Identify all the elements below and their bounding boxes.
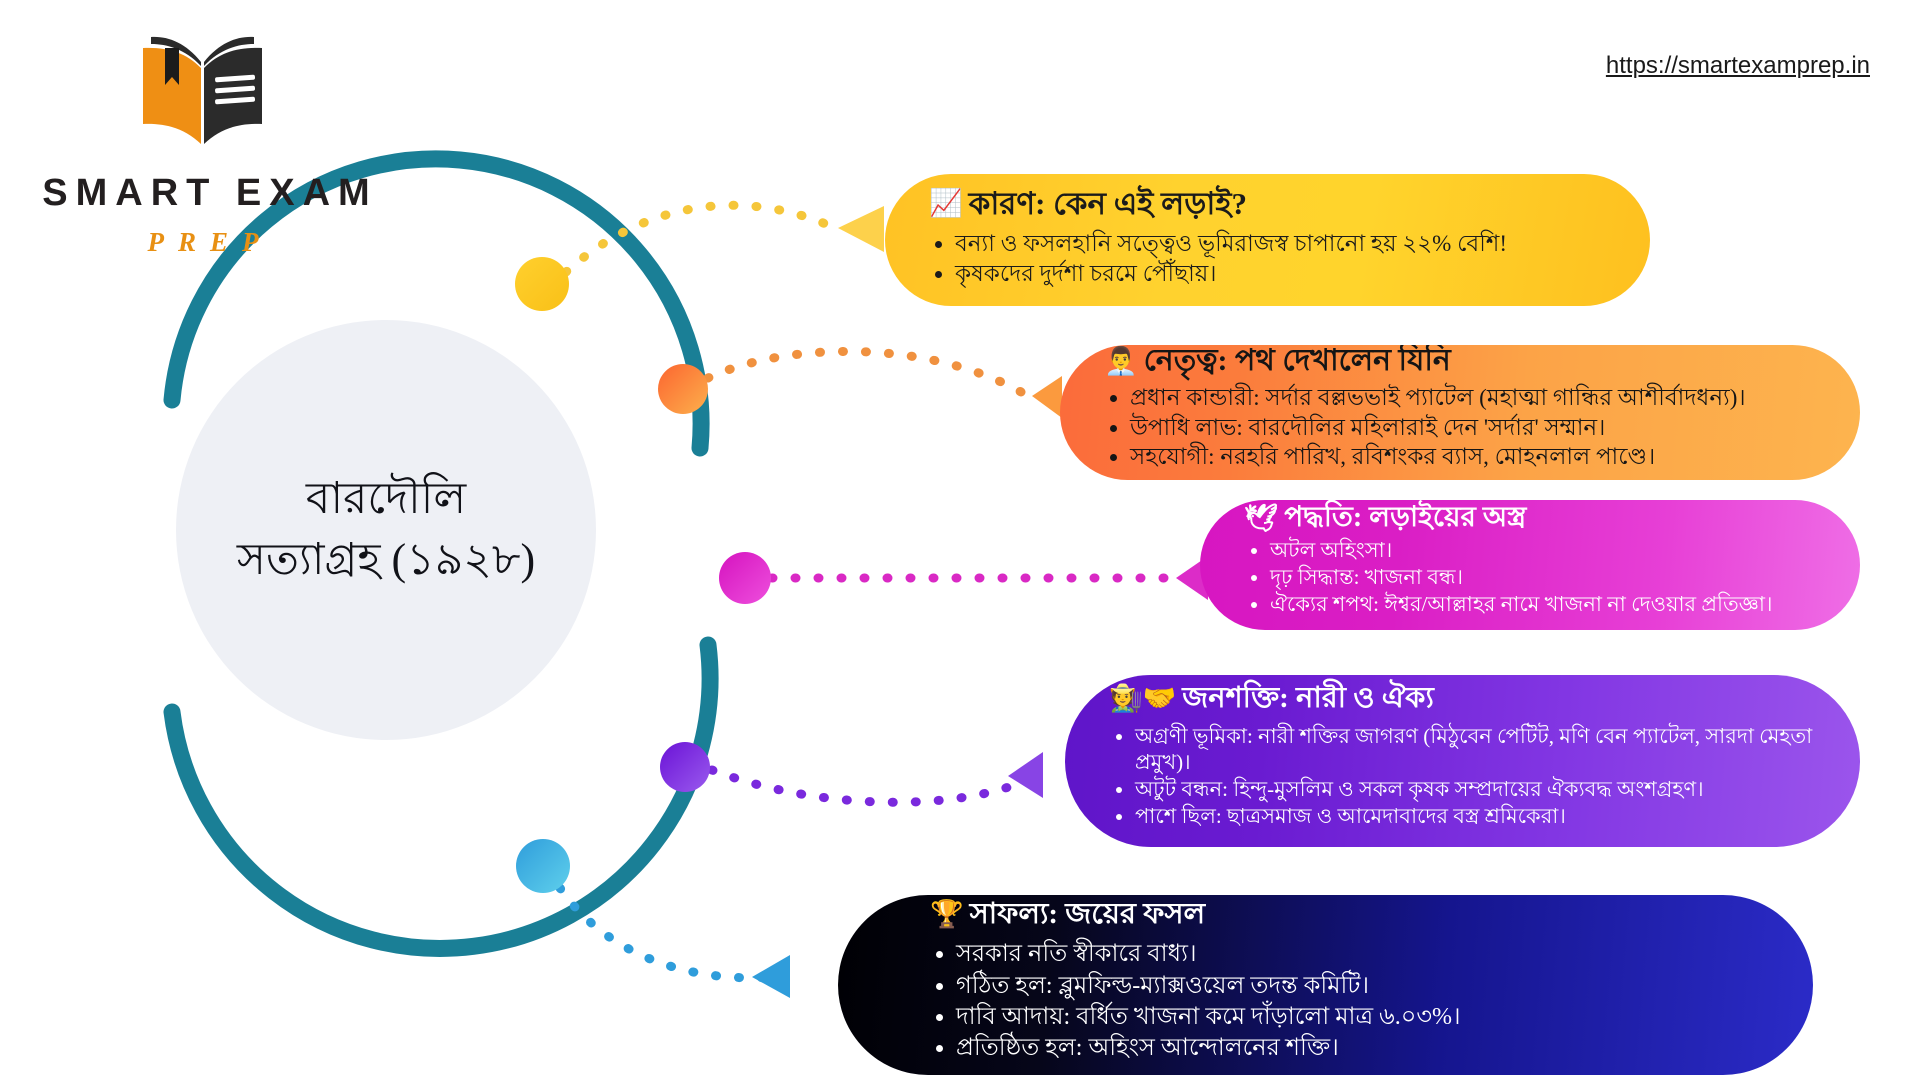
card-cause-bullets: বন্যা ও ফসলহানি সত্ত্বেও ভূমিরাজস্ব চাপা…	[929, 228, 1616, 291]
site-url-link[interactable]: https://smartexamprep.in	[1606, 52, 1870, 80]
node-method[interactable]	[719, 552, 771, 604]
card-success-title: সাফল্য: জয়ের ফসল	[970, 898, 1206, 932]
list-item: বন্যা ও ফসলহানি সত্ত্বেও ভূমিরাজস্ব চাপা…	[955, 229, 1616, 259]
node-leader[interactable]	[658, 364, 708, 414]
card-success-bullets: সরকার নতি স্বীকারে বাধ্য। গঠিত হল: ব্লুম…	[930, 938, 1779, 1064]
list-item: গঠিত হল: ব্লুমফিল্ড-ম্যাক্সওয়েল তদন্ত ক…	[956, 971, 1779, 1001]
list-item: দাবি আদায়: বর্ধিত খাজনা কমে দাঁড়ালো মা…	[956, 1002, 1779, 1032]
connector-people	[712, 770, 1040, 802]
list-item: ঐক্যের শপথ: ঈশ্বর/আল্লাহর নামে খাজনা না …	[1270, 592, 1826, 618]
card-leader-bullets: প্রধান কান্ডারী: সর্দার বল্লভভাই প্যাটেল…	[1104, 383, 1826, 473]
arrow-people	[1008, 752, 1043, 798]
arrow-leader	[1032, 376, 1062, 418]
center-circle	[176, 320, 596, 740]
list-item: প্রতিষ্ঠিত হল: অহিংস আন্দোলনের শক্তি।	[956, 1033, 1779, 1063]
open-book-icon	[115, 32, 290, 147]
list-item: সরকার নতি স্বীকারে বাধ্য।	[956, 939, 1779, 969]
node-success[interactable]	[516, 839, 570, 893]
list-item: অটুট বন্ধন: হিন্দু-মুসলিম ও সকল কৃষক সম্…	[1135, 776, 1826, 802]
card-method-title: পদ্ধতি: লড়াইয়ের অস্ত্র	[1284, 502, 1526, 534]
card-method-bullets: অটল অহিংসা। দৃঢ় সিদ্ধান্ত: খাজনা বন্ধ। …	[1244, 537, 1826, 618]
list-item: কৃষকদের দুর্দশা চরমে পৌঁছায়।	[955, 259, 1616, 289]
card-leader-title: নেতৃত্ব: পথ দেখালেন যিনি	[1144, 345, 1451, 379]
card-success[interactable]: 🏆 সাফল্য: জয়ের ফসল সরকার নতি স্বীকারে ব…	[838, 895, 1813, 1075]
brand-name: SMART EXAM	[20, 172, 400, 215]
trophy-icon: 🏆	[930, 901, 964, 928]
card-people-title-row: 🧑‍🌾🤝 জনশক্তি: নারী ও ঐক্য	[1109, 682, 1826, 716]
list-item: প্রধান কান্ডারী: সর্দার বল্লভভাই প্যাটেল…	[1130, 384, 1826, 413]
dove-icon: 🕊	[1244, 505, 1278, 532]
farmer-handshake-icon: 🧑‍🌾🤝	[1109, 685, 1176, 712]
arrow-success	[752, 955, 790, 998]
card-cause[interactable]: 📈 কারণ: কেন এই লড়াই? বন্যা ও ফসলহানি সত…	[885, 174, 1650, 306]
list-item: অগ্রণী ভূমিকা: নারী শক্তির জাগরণ (মিঠুবে…	[1135, 723, 1826, 775]
list-item: দৃঢ় সিদ্ধান্ত: খাজনা বন্ধ।	[1270, 565, 1826, 591]
connector-leader	[708, 351, 1028, 396]
brand-subtitle: PREP	[20, 227, 400, 258]
card-method-title-row: 🕊 পদ্ধতি: লড়াইয়ের অস্ত্র	[1244, 502, 1826, 534]
list-item: অটল অহিংসা।	[1270, 538, 1826, 564]
card-people[interactable]: 🧑‍🌾🤝 জনশক্তি: নারী ও ঐক্য অগ্রণী ভূমিকা:…	[1065, 675, 1860, 847]
node-cause[interactable]	[515, 257, 569, 311]
card-cause-title: কারণ: কেন এই লড়াই?	[969, 186, 1247, 222]
chart-increasing-icon: 📈	[929, 190, 963, 217]
card-leader-title-row: 👨‍💼 নেতৃত্ব: পথ দেখালেন যিনি	[1104, 345, 1826, 379]
card-cause-title-row: 📈 কারণ: কেন এই লড়াই?	[929, 186, 1616, 222]
arrow-cause	[838, 206, 884, 252]
brand-logo: SMART EXAM PREP	[20, 22, 400, 272]
card-people-bullets: অগ্রণী ভূমিকা: নারী শক্তির জাগরণ (মিঠুবে…	[1109, 722, 1826, 830]
card-leader[interactable]: 👨‍💼 নেতৃত্ব: পথ দেখালেন যিনি প্রধান কান্…	[1060, 345, 1860, 480]
card-method[interactable]: 🕊 পদ্ধতি: লড়াইয়ের অস্ত্র অটল অহিংসা। দ…	[1200, 500, 1860, 630]
infographic-canvas: SMART EXAM PREP https://smartexamprep.in…	[0, 0, 1920, 1080]
list-item: সহযোগী: নরহরি পারিখ, রবিশংকর ব্যাস, মোহন…	[1130, 443, 1826, 472]
list-item: উপাধি লাভ: বারদৌলির মহিলারাই দেন 'সর্দার…	[1130, 414, 1826, 443]
card-success-title-row: 🏆 সাফল্য: জয়ের ফসল	[930, 898, 1779, 932]
node-people[interactable]	[660, 742, 710, 792]
list-item: পাশে ছিল: ছাত্রসমাজ ও আমেদাবাদের বস্ত্র …	[1135, 803, 1826, 829]
card-people-title: জনশক্তি: নারী ও ঐক্য	[1182, 682, 1434, 716]
man-office-worker-icon: 👨‍💼	[1104, 348, 1138, 375]
